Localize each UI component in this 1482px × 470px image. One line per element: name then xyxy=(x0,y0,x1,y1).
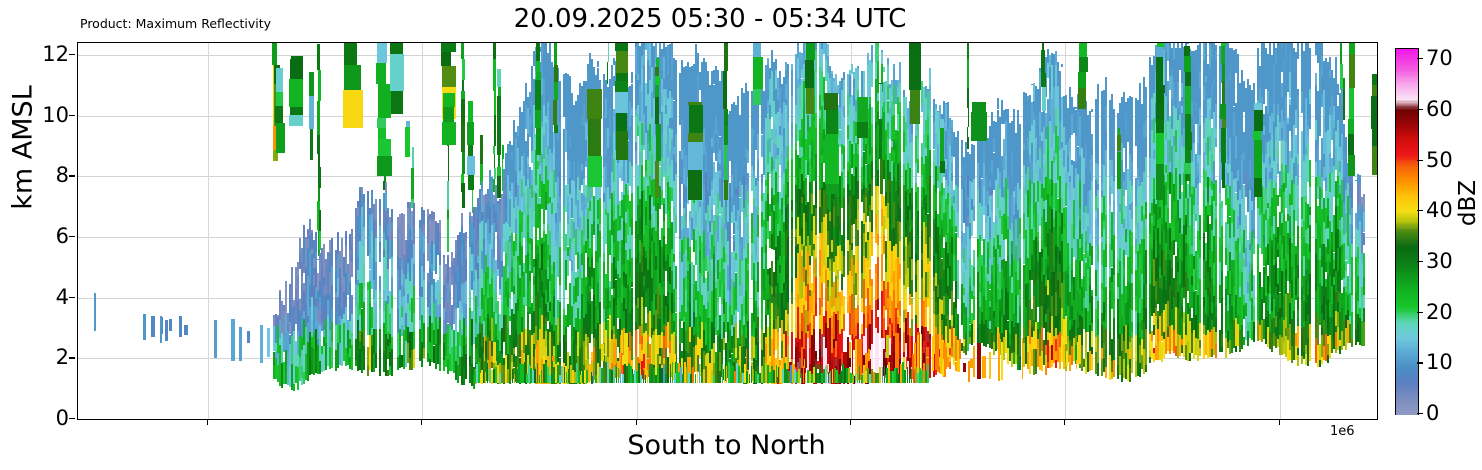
heatmap-cell xyxy=(635,142,637,151)
heatmap-cell xyxy=(455,321,457,332)
heatmap-cell xyxy=(608,43,609,62)
heatmap-cell xyxy=(787,237,789,260)
heatmap-cell xyxy=(857,261,859,273)
heatmap-cell xyxy=(502,145,504,159)
heatmap-cell xyxy=(973,250,975,267)
heatmap-cell xyxy=(753,171,755,178)
heatmap-cell xyxy=(523,305,525,328)
heatmap-cell xyxy=(815,258,817,277)
heatmap-cell xyxy=(583,171,585,179)
heatmap-cell xyxy=(887,58,889,65)
heatmap-cell xyxy=(787,197,789,203)
heatmap-cell xyxy=(911,298,913,304)
heatmap-cell xyxy=(351,262,353,278)
heatmap-cell xyxy=(413,349,415,369)
heatmap-cell xyxy=(969,239,971,258)
heatmap-cell xyxy=(837,270,839,279)
heatmap-cell xyxy=(967,152,969,153)
heatmap-cell xyxy=(917,159,919,172)
heatmap-cell xyxy=(735,316,737,323)
heatmap-cell xyxy=(379,291,381,310)
heatmap-cell xyxy=(929,75,931,86)
heatmap-cell xyxy=(877,194,879,210)
heatmap-cell xyxy=(757,307,759,317)
heatmap-cell xyxy=(391,257,393,277)
heatmap-cell xyxy=(883,67,885,72)
heatmap-cell xyxy=(363,263,365,288)
heatmap-cell xyxy=(435,257,437,275)
heatmap-cell xyxy=(675,60,677,63)
heatmap-cell xyxy=(951,156,953,163)
heatmap-cell xyxy=(929,221,931,237)
heatmap-cell xyxy=(911,259,913,280)
heatmap-cell xyxy=(917,139,919,160)
heatmap-cell xyxy=(815,235,817,258)
heatmap-cell xyxy=(791,304,793,332)
heatmap-cell xyxy=(815,277,817,303)
heatmap-cell xyxy=(787,122,789,147)
heatmap-cell xyxy=(559,285,561,295)
heatmap-cell xyxy=(991,195,993,212)
heatmap-cell xyxy=(363,330,365,346)
heatmap-cell xyxy=(815,351,817,359)
heatmap-cell xyxy=(462,59,465,80)
heatmap-cell xyxy=(929,284,931,292)
heatmap-cell xyxy=(663,43,665,45)
heatmap-cell xyxy=(747,243,749,264)
heatmap-cell xyxy=(791,217,793,229)
heatmap-cell xyxy=(413,224,415,245)
heatmap-cell xyxy=(791,278,793,291)
heatmap-cell xyxy=(871,179,873,196)
heatmap-cell xyxy=(871,63,873,88)
heatmap-cell xyxy=(391,277,393,295)
heatmap-cell xyxy=(933,99,935,101)
heatmap-cell xyxy=(179,316,182,337)
heatmap-cell xyxy=(331,309,333,321)
heatmap-cell xyxy=(631,282,633,288)
heatmap-cell xyxy=(675,266,677,289)
heatmap-cell xyxy=(493,43,496,59)
heatmap-cell xyxy=(957,314,959,325)
heatmap-cell xyxy=(797,43,799,45)
heatmap-cell xyxy=(351,229,353,243)
heatmap-cell xyxy=(967,43,969,59)
heatmap-cell xyxy=(899,342,901,359)
heatmap-cell xyxy=(787,324,789,336)
heatmap-cell xyxy=(747,223,749,243)
heatmap-cell xyxy=(331,239,333,266)
heatmap-cell xyxy=(851,225,853,243)
heatmap-cell xyxy=(495,277,497,292)
heatmap-cell xyxy=(675,336,677,355)
heatmap-cell xyxy=(899,222,901,242)
heatmap-cell xyxy=(911,238,913,260)
heatmap-cell xyxy=(929,109,931,123)
heatmap-cell xyxy=(973,267,975,286)
heatmap-cell xyxy=(331,285,333,310)
heatmap-cell xyxy=(843,80,845,106)
heatmap-cell xyxy=(815,154,817,181)
heatmap-cell xyxy=(423,272,425,281)
heatmap-cell xyxy=(929,176,931,203)
heatmap-cell xyxy=(917,280,919,304)
heatmap-cell xyxy=(809,256,811,266)
heatmap-cell xyxy=(791,144,793,159)
heatmap-cell xyxy=(439,241,441,253)
heatmap-cell xyxy=(559,81,561,103)
heatmap-cell xyxy=(957,212,959,237)
heatmap-cell xyxy=(917,236,919,260)
heatmap-cell xyxy=(857,68,859,80)
heatmap-cell xyxy=(857,79,859,89)
heatmap-cell xyxy=(413,203,415,217)
heatmap-cell xyxy=(379,329,381,349)
heatmap-cell xyxy=(991,112,993,118)
heatmap-cell xyxy=(421,207,423,208)
heatmap-cell xyxy=(493,231,495,238)
heatmap-cell xyxy=(841,329,843,353)
heatmap-cell xyxy=(717,70,719,75)
heatmap-cell xyxy=(675,108,677,135)
heatmap-cell xyxy=(599,224,601,232)
heatmap-cell xyxy=(363,203,365,227)
heatmap-cell xyxy=(905,289,907,309)
heatmap-cell xyxy=(447,255,449,259)
heatmap-cell xyxy=(481,181,483,191)
heatmap-cell xyxy=(871,107,873,124)
heatmap-cell xyxy=(493,59,496,91)
heatmap-cell xyxy=(317,44,320,70)
heatmap-cell xyxy=(439,317,441,345)
heatmap-cell xyxy=(675,289,677,312)
heatmap-cell xyxy=(877,317,879,333)
heatmap-cell xyxy=(753,149,755,171)
heatmap-cell xyxy=(899,62,901,82)
heatmap-cell xyxy=(559,222,561,233)
heatmap-cell xyxy=(787,314,789,324)
heatmap-cell xyxy=(461,213,463,225)
heatmap-cell xyxy=(471,346,473,364)
heatmap-cell xyxy=(787,286,789,302)
heatmap-cell xyxy=(813,315,815,330)
heatmap-cell xyxy=(747,191,749,205)
heatmap-cell xyxy=(439,252,441,265)
heatmap-cell xyxy=(494,154,496,169)
heatmap-cell xyxy=(462,80,464,91)
heatmap-cell xyxy=(877,245,879,257)
heatmap-cell xyxy=(423,226,425,236)
heatmap-cell xyxy=(465,241,467,259)
heatmap-cell xyxy=(391,337,393,349)
heatmap-cell xyxy=(423,280,425,299)
heatmap-cell xyxy=(497,69,501,87)
heatmap-cell xyxy=(461,43,464,59)
heatmap-cell xyxy=(571,93,573,101)
heatmap-cell xyxy=(671,43,673,56)
heatmap-cell xyxy=(951,163,953,173)
heatmap-cell xyxy=(705,62,707,67)
heatmap-cell xyxy=(631,166,633,193)
heatmap-cell xyxy=(675,97,677,108)
heatmap-cell xyxy=(375,220,377,238)
heatmap-cell xyxy=(143,314,146,340)
plot-clip-region xyxy=(78,43,1377,419)
heatmap-cell xyxy=(297,277,299,286)
heatmap-cell xyxy=(791,70,793,96)
heatmap-cell xyxy=(843,301,845,314)
heatmap-cell xyxy=(559,342,561,357)
heatmap-cell xyxy=(809,265,811,278)
heatmap-cell xyxy=(815,113,817,128)
heatmap-cell xyxy=(747,270,749,282)
heatmap-cell xyxy=(857,154,859,181)
heatmap-cell xyxy=(351,243,353,256)
heatmap-cell xyxy=(857,323,859,334)
heatmap-cell xyxy=(379,309,381,329)
heatmap-cell xyxy=(663,221,665,237)
heatmap-cell xyxy=(911,203,913,220)
heatmap-cell xyxy=(469,212,471,216)
heatmap-cell xyxy=(871,232,873,256)
heatmap-cell xyxy=(871,344,873,363)
heatmap-cell xyxy=(494,168,496,179)
heatmap-cell xyxy=(391,349,393,359)
heatmap-cell xyxy=(871,210,873,232)
heatmap-cell xyxy=(297,271,299,278)
heatmap-cell xyxy=(411,168,414,199)
heatmap-cell xyxy=(385,182,387,192)
heatmap-cell xyxy=(757,292,759,307)
heatmap-cell xyxy=(777,347,779,354)
heatmap-cell xyxy=(391,240,393,258)
heatmap-cell xyxy=(765,315,767,326)
heatmap-cell xyxy=(462,192,465,208)
heatmap-cell xyxy=(863,82,865,97)
heatmap-cell xyxy=(423,300,425,323)
heatmap-cell xyxy=(911,319,913,336)
heatmap-cell xyxy=(631,235,633,258)
heatmap-cell xyxy=(675,313,677,330)
heatmap-cell xyxy=(787,259,789,286)
heatmap-cell xyxy=(957,140,959,162)
heatmap-cell xyxy=(160,316,162,343)
heatmap-cell xyxy=(843,126,845,146)
heatmap-cell xyxy=(94,293,96,331)
heatmap-cell xyxy=(379,276,381,291)
heatmap-cell xyxy=(947,296,949,314)
heatmap-cell xyxy=(675,91,677,97)
heatmap-cell xyxy=(911,304,913,319)
heatmap-cell xyxy=(285,281,287,293)
heatmap-cell xyxy=(973,147,975,168)
heatmap-cell xyxy=(455,309,457,321)
heatmap-cell xyxy=(747,108,749,125)
heatmap-cell xyxy=(293,384,295,391)
heatmap-cell xyxy=(631,72,633,84)
heatmap-cell xyxy=(791,200,793,211)
heatmap-cell xyxy=(843,296,845,302)
heatmap-cell xyxy=(413,313,415,331)
heatmap-cell xyxy=(911,280,913,297)
heatmap-cell xyxy=(787,226,789,237)
heatmap-cell xyxy=(831,71,833,74)
heatmap-cell xyxy=(465,344,467,355)
heatmap-cell xyxy=(443,255,445,257)
heatmap-cell xyxy=(827,44,829,55)
heatmap-cell xyxy=(787,79,789,95)
heatmap-cell xyxy=(733,102,735,103)
heatmap-cell xyxy=(663,289,665,296)
heatmap-cell xyxy=(545,43,547,45)
heatmap-cell xyxy=(899,162,901,185)
heatmap-cell xyxy=(917,211,919,236)
heatmap-cell xyxy=(957,131,959,141)
heatmap-cell xyxy=(917,304,919,328)
heatmap-cell xyxy=(791,256,793,278)
heatmap-cell xyxy=(675,195,677,215)
heatmap-cell xyxy=(375,199,377,220)
heatmap-cell xyxy=(631,320,633,336)
heatmap-cell xyxy=(761,174,763,183)
heatmap-cell xyxy=(843,117,845,126)
heatmap-cell xyxy=(675,134,677,161)
plot-axes xyxy=(77,42,1378,420)
heatmap-cell xyxy=(498,155,501,167)
heatmap-cell xyxy=(765,245,767,253)
heatmap-cell xyxy=(543,224,545,231)
heatmap-cell xyxy=(949,362,951,369)
heatmap-cell xyxy=(815,343,817,351)
heatmap-cell xyxy=(569,76,571,91)
heatmap-cell xyxy=(821,283,823,307)
heatmap-cell xyxy=(559,294,561,302)
heatmap-cell xyxy=(559,139,561,153)
heatmap-cell xyxy=(747,282,749,306)
heatmap-cell xyxy=(631,116,633,132)
heatmap-cell xyxy=(929,203,931,221)
heatmap-cell xyxy=(363,346,365,370)
heatmap-cell xyxy=(391,223,393,230)
heatmap-cell xyxy=(791,159,793,183)
heatmap-cell xyxy=(315,252,317,268)
heatmap-cell xyxy=(747,125,749,151)
heatmap-cell xyxy=(391,230,393,240)
heatmap-cell xyxy=(559,102,561,110)
heatmap-cell xyxy=(887,138,889,150)
heatmap-cell xyxy=(757,159,759,181)
heatmap-cell xyxy=(911,336,913,354)
heatmap-cell xyxy=(973,286,975,296)
heatmap-cell xyxy=(911,142,913,164)
heatmap-cell xyxy=(231,319,234,361)
heatmap-cell xyxy=(565,327,567,342)
heatmap-cell xyxy=(583,264,585,271)
heatmap-cell xyxy=(363,227,365,246)
heatmap-cell xyxy=(529,271,531,281)
heatmap-cell xyxy=(747,336,749,362)
heatmap-cell xyxy=(675,63,677,83)
heatmap-cell xyxy=(549,45,551,55)
heatmap-cell xyxy=(559,302,561,327)
heatmap-cell xyxy=(815,303,817,316)
heatmap-cell xyxy=(461,91,465,99)
heatmap-cell xyxy=(929,269,931,284)
heatmap-cell xyxy=(871,161,873,179)
heatmap-cell xyxy=(497,96,501,121)
heatmap-cell xyxy=(461,174,464,183)
heatmap-cell xyxy=(559,132,561,139)
heatmap-cell xyxy=(871,286,873,310)
heatmap-cell xyxy=(787,64,789,79)
heatmap-cell xyxy=(747,264,749,270)
heatmap-cell xyxy=(947,102,949,108)
heatmap-cell xyxy=(843,106,845,118)
heatmap-cell xyxy=(513,348,515,354)
heatmap-cell xyxy=(599,280,601,301)
heatmap-cell xyxy=(375,238,377,262)
heatmap-cell xyxy=(367,191,369,204)
heatmap-cell xyxy=(465,281,467,303)
heatmap-cell xyxy=(757,280,759,292)
heatmap-cell xyxy=(267,328,270,357)
heatmap-cell xyxy=(815,128,817,154)
heatmap-cell xyxy=(379,199,381,213)
heatmap-cell xyxy=(871,310,873,324)
heatmap-cell xyxy=(757,134,759,159)
heatmap-cell xyxy=(631,193,633,219)
heatmap-cell xyxy=(747,306,749,321)
heatmap-cell xyxy=(375,353,377,368)
heatmap-cell xyxy=(318,167,321,187)
heatmap-cell xyxy=(323,244,325,258)
heatmap-cell xyxy=(591,253,593,259)
heatmap-cell xyxy=(423,348,425,358)
heatmap-cell xyxy=(311,230,313,233)
heatmap-cell xyxy=(899,112,901,128)
heatmap-cell xyxy=(391,209,393,223)
heatmap-cell xyxy=(747,91,749,108)
heatmap-cell xyxy=(423,323,425,348)
heatmap-cell xyxy=(899,316,901,328)
heatmap-cell xyxy=(465,232,467,241)
heatmap-cell xyxy=(631,108,633,116)
heatmap-cell xyxy=(973,320,975,343)
heatmap-cell xyxy=(611,90,613,105)
heatmap-cell xyxy=(757,237,759,262)
heatmap-cell xyxy=(627,190,629,195)
heatmap-cell xyxy=(787,204,789,227)
heatmap-cell xyxy=(351,295,353,314)
heatmap-cell xyxy=(151,316,155,337)
heatmap-cell xyxy=(559,110,561,122)
heatmap-cell xyxy=(893,64,895,69)
heatmap-cell xyxy=(747,362,749,370)
heatmap-cell xyxy=(480,135,483,163)
heatmap-cell xyxy=(843,146,845,169)
heatmap-cell xyxy=(929,150,931,176)
heatmap-cell xyxy=(791,64,793,70)
heatmap-cell xyxy=(351,255,353,261)
heatmap-cell xyxy=(837,279,839,292)
heatmap-cell xyxy=(635,151,637,164)
heatmap-cell xyxy=(857,273,859,281)
heatmap-cell xyxy=(413,286,415,296)
heatmap-cell xyxy=(363,302,365,330)
heatmap-cell xyxy=(331,238,333,240)
heatmap-cell xyxy=(843,256,845,277)
heatmap-cell xyxy=(871,279,873,287)
